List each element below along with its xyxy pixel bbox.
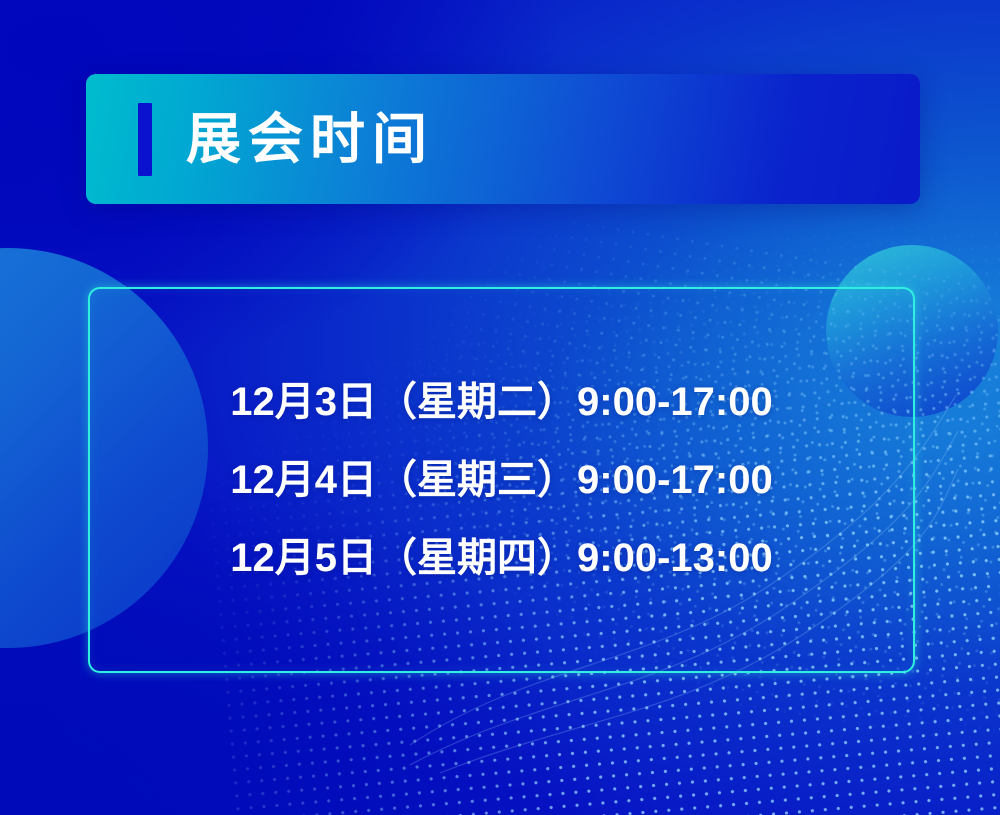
poster-canvas: 展会时间 12月3日（星期二）9:00-17:00 12月4日（星期三）9:00… [0,0,1000,815]
schedule-row: 12月4日（星期三）9:00-17:00 [230,460,772,500]
title-accent-bar-icon [138,103,152,176]
schedule-row: 12月3日（星期二）9:00-17:00 [230,382,772,422]
section-title-banner: 展会时间 [86,74,920,204]
schedule-row: 12月5日（星期四）9:00-13:00 [230,538,772,578]
schedule-list: 12月3日（星期二）9:00-17:00 12月4日（星期三）9:00-17:0… [88,287,915,673]
page-title: 展会时间 [186,112,434,167]
